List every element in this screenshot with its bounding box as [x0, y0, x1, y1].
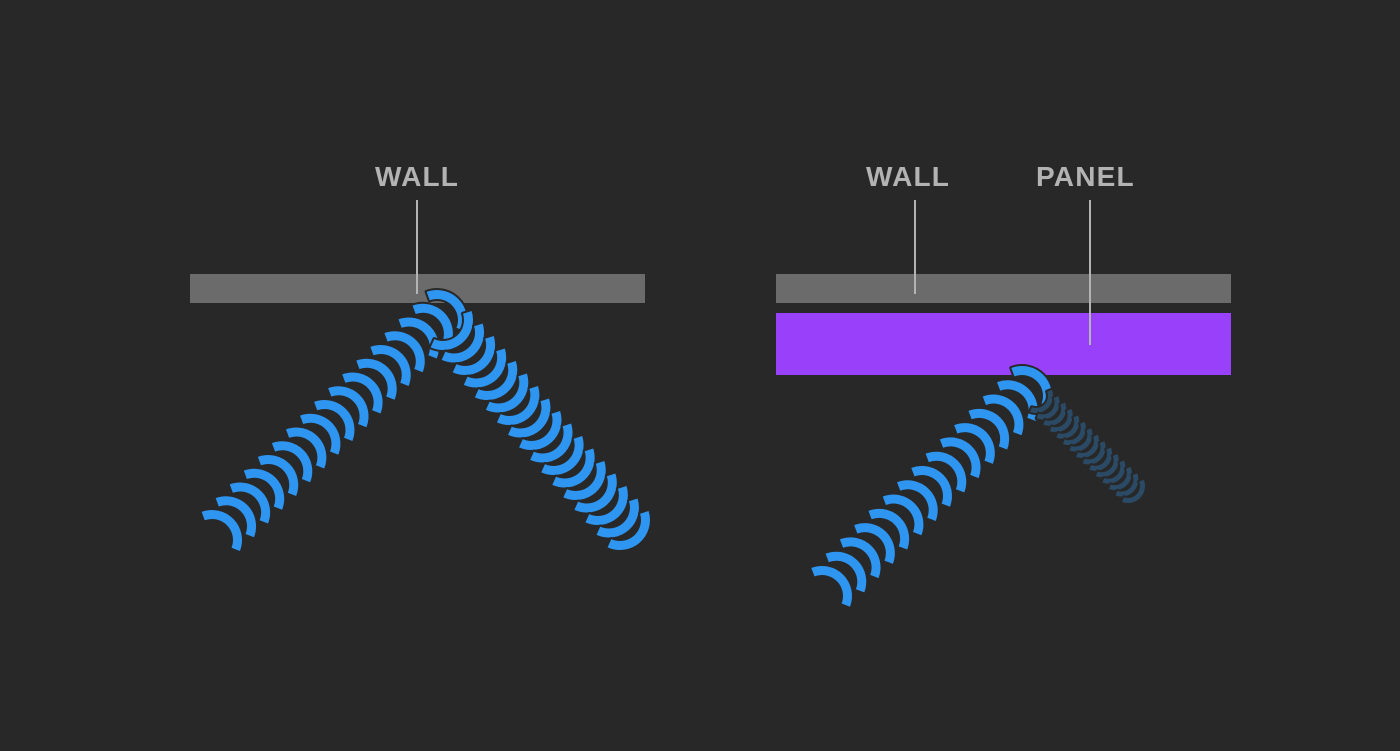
diagram-canvas	[0, 0, 1400, 751]
label-panel-right: PANEL	[1036, 161, 1135, 193]
label-wall-left: WALL	[375, 161, 459, 193]
surfaces-layer	[190, 274, 1231, 375]
incident-wave	[809, 355, 1063, 609]
label-wall-right: WALL	[866, 161, 950, 193]
right-diagram-wall	[776, 274, 1231, 303]
right-diagram-panel	[776, 313, 1231, 375]
absorbed-reflected-wave	[1029, 388, 1151, 509]
reflected-wave	[428, 308, 660, 560]
incident-wave	[199, 279, 478, 553]
diagram-stage: WALL WALL PANEL	[0, 0, 1400, 751]
